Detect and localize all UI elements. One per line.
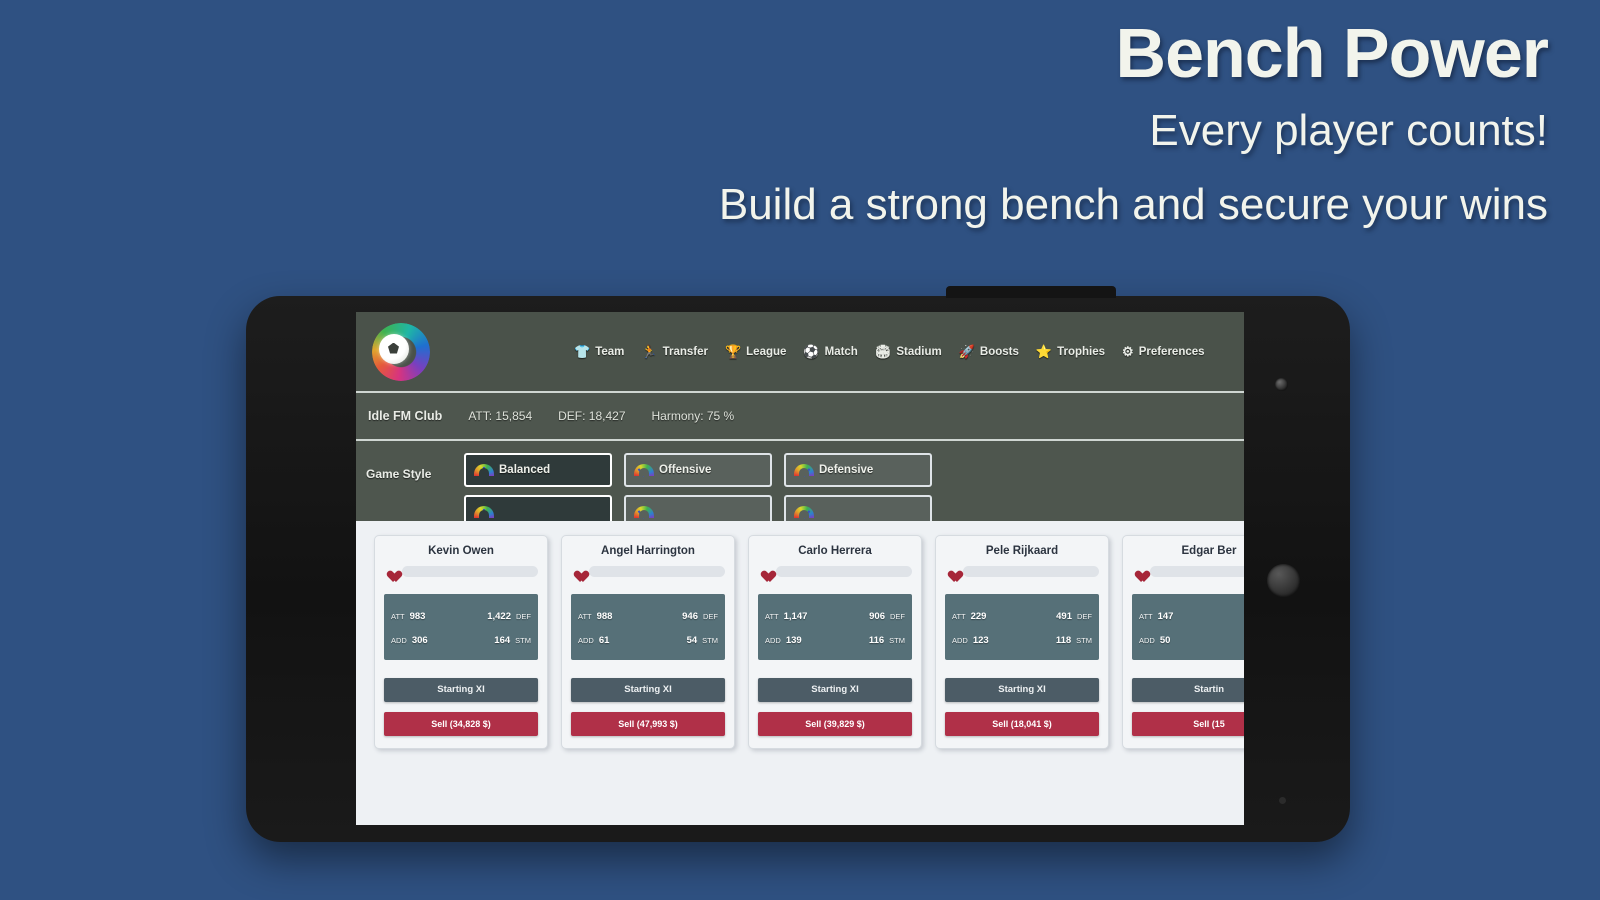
player-stat-box: ATT983 1,422DEF ADD306 164STM [384, 594, 538, 660]
game-style-option-offensive-row2[interactable] [624, 495, 772, 521]
stat-key-stm: STM [889, 636, 905, 645]
stat-value-def: 946 [682, 611, 698, 622]
health-bar-track [1150, 566, 1244, 577]
nav-item-team[interactable]: 👕 Team [574, 345, 624, 358]
stat-value-att: 229 [971, 611, 987, 622]
rocket-icon: 🚀 [959, 345, 975, 358]
game-style-option-defensive-row2[interactable] [784, 495, 932, 521]
club-defense-stat: DEF: 18,427 [558, 409, 625, 423]
game-style-bar: Game Style Balanced Offensive [356, 441, 1244, 521]
gauge-icon [474, 464, 494, 476]
gauge-icon [474, 506, 494, 518]
phone-device-frame: 👕 Team 🏃 Transfer 🏆 League ⚽ Match 🏟 [246, 296, 1350, 842]
whistle-icon: ⚽ [803, 345, 819, 358]
app-top-navigation: 👕 Team 🏃 Transfer 🏆 League ⚽ Match 🏟 [356, 312, 1244, 393]
home-button[interactable] [1267, 564, 1300, 597]
stat-key-att: ATT [391, 612, 405, 621]
player-card[interactable]: Kevin Owen ATT983 1,422DEF ADD306 164STM… [374, 535, 548, 749]
game-style-option-offensive[interactable]: Offensive [624, 453, 772, 487]
sell-player-button[interactable]: Sell (34,828 $) [384, 712, 538, 736]
player-stat-box: ATT988 946DEF ADD61 54STM [571, 594, 725, 660]
player-stat-row-attack-defense: ATT988 946DEF [578, 611, 718, 622]
nav-item-label: Boosts [980, 346, 1019, 358]
heart-icon [945, 565, 959, 578]
gear-icon: ⚙ [1122, 345, 1134, 358]
sell-player-button[interactable]: Sell (47,993 $) [571, 712, 725, 736]
player-name: Carlo Herrera [758, 545, 912, 557]
stat-key-def: DEF [1077, 612, 1092, 621]
player-stat-row-attack-defense: ATT147 DEF [1139, 611, 1244, 622]
health-bar-track [963, 566, 1099, 577]
player-health-row [571, 565, 725, 578]
player-stat-box: ATT147 DEF ADD50 STM [1132, 594, 1244, 660]
player-health-row [384, 565, 538, 578]
game-style-option-label: Offensive [659, 464, 711, 476]
player-name: Edgar Ber [1132, 545, 1244, 557]
starting-xi-button[interactable]: Startin [1132, 678, 1244, 702]
nav-item-label: Stadium [896, 346, 941, 358]
stat-value-stm: 116 [869, 635, 884, 646]
club-crest-icon[interactable] [366, 323, 424, 381]
stat-key-att: ATT [765, 612, 779, 621]
transfer-icon: 🏃 [641, 345, 657, 358]
phone-screen: 👕 Team 🏃 Transfer 🏆 League ⚽ Match 🏟 [356, 312, 1244, 825]
stat-value-add: 61 [599, 635, 610, 646]
stat-key-att: ATT [952, 612, 966, 621]
nav-item-label: Preferences [1139, 346, 1205, 358]
stat-value-stm: 164 [494, 635, 510, 646]
promo-text-block: Bench Power Every player counts! Build a… [719, 18, 1548, 237]
starting-xi-button[interactable]: Starting XI [758, 678, 912, 702]
game-style-option-label: Defensive [819, 464, 873, 476]
health-bar-track [589, 566, 725, 577]
gauge-icon [634, 506, 654, 518]
player-card[interactable]: Pele Rijkaard ATT229 491DEF ADD123 118ST… [935, 535, 1109, 749]
club-info-bar: Idle FM Club ATT: 15,854 DEF: 18,427 Har… [356, 393, 1244, 441]
player-stat-box: ATT229 491DEF ADD123 118STM [945, 594, 1099, 660]
nav-item-league[interactable]: 🏆 League [725, 345, 786, 358]
stat-key-att: ATT [578, 612, 592, 621]
player-stat-row-add-stamina: ADD50 STM [1139, 635, 1244, 646]
starting-xi-button[interactable]: Starting XI [571, 678, 725, 702]
nav-item-transfer[interactable]: 🏃 Transfer [641, 345, 708, 358]
player-stat-row-attack-defense: ATT983 1,422DEF [391, 611, 531, 622]
stat-value-stm: 118 [1056, 635, 1071, 646]
player-card[interactable]: Carlo Herrera ATT1,147 906DEF ADD139 116… [748, 535, 922, 749]
star-icon: ⭐ [1036, 345, 1052, 358]
nav-items-container: 👕 Team 🏃 Transfer 🏆 League ⚽ Match 🏟 [574, 345, 1205, 358]
nav-item-trophies[interactable]: ⭐ Trophies [1036, 345, 1105, 358]
nav-item-label: Match [825, 346, 858, 358]
health-bar-track [402, 566, 538, 577]
stat-value-def: 491 [1056, 611, 1072, 622]
game-style-label: Game Style [366, 467, 452, 481]
nav-item-label: Team [595, 346, 624, 358]
club-attack-stat: ATT: 15,854 [468, 409, 532, 423]
jersey-icon: 👕 [574, 345, 590, 358]
stat-key-add: ADD [391, 636, 407, 645]
phone-top-speaker [946, 286, 1116, 298]
sell-player-button[interactable]: Sell (15 [1132, 712, 1244, 736]
stat-key-def: DEF [703, 612, 718, 621]
promo-title: Bench Power [719, 18, 1548, 88]
stat-key-stm: STM [1076, 636, 1092, 645]
game-style-column-offensive: Offensive [624, 453, 772, 521]
front-camera-icon [1275, 378, 1288, 391]
stat-value-add: 123 [973, 635, 989, 646]
nav-item-label: Transfer [663, 346, 708, 358]
stat-value-stm: 54 [687, 635, 698, 646]
club-harmony-stat: Harmony: 75 % [652, 409, 735, 423]
player-stat-row-add-stamina: ADD139 116STM [765, 635, 905, 646]
stat-value-att: 983 [410, 611, 426, 622]
promo-subtitle-line-1: Every player counts! [719, 100, 1548, 162]
stat-key-add: ADD [765, 636, 781, 645]
stat-key-stm: STM [702, 636, 718, 645]
player-card[interactable]: Angel Harrington ATT988 946DEF ADD61 54S… [561, 535, 735, 749]
stat-value-add: 306 [412, 635, 428, 646]
game-style-option-balanced-row2[interactable] [464, 495, 612, 521]
stat-value-def: 906 [869, 611, 885, 622]
stat-key-add: ADD [952, 636, 968, 645]
nav-item-preferences[interactable]: ⚙ Preferences [1122, 345, 1205, 358]
nav-item-label: League [746, 346, 786, 358]
game-style-column-defensive: Defensive [784, 453, 932, 521]
trophy-cup-icon: 🏆 [725, 345, 741, 358]
game-style-column-balanced: Balanced [464, 453, 612, 521]
player-name: Pele Rijkaard [945, 545, 1099, 557]
stat-key-att: ATT [1139, 612, 1153, 621]
heart-icon [571, 565, 585, 578]
player-stat-row-add-stamina: ADD123 118STM [952, 635, 1092, 646]
stat-value-add: 139 [786, 635, 802, 646]
player-stat-row-add-stamina: ADD61 54STM [578, 635, 718, 646]
player-stat-row-attack-defense: ATT1,147 906DEF [765, 611, 905, 622]
promo-subtitle-line-2: Build a strong bench and secure your win… [719, 174, 1548, 236]
player-health-row [758, 565, 912, 578]
heart-icon [1132, 565, 1146, 578]
player-card-list[interactable]: Kevin Owen ATT983 1,422DEF ADD306 164STM… [356, 521, 1244, 825]
stat-key-add: ADD [1139, 636, 1155, 645]
stat-key-def: DEF [890, 612, 905, 621]
sensor-dot-icon [1279, 797, 1286, 804]
stat-key-add: ADD [578, 636, 594, 645]
game-style-option-defensive[interactable]: Defensive [784, 453, 932, 487]
starting-xi-button[interactable]: Starting XI [384, 678, 538, 702]
game-style-option-balanced[interactable]: Balanced [464, 453, 612, 487]
game-style-option-label: Balanced [499, 464, 550, 476]
gauge-icon [794, 464, 814, 476]
player-name: Kevin Owen [384, 545, 538, 557]
stat-key-stm: STM [515, 636, 531, 645]
player-stat-row-add-stamina: ADD306 164STM [391, 635, 531, 646]
player-health-row [1132, 565, 1244, 578]
player-card[interactable]: Edgar Ber ATT147 DEF ADD50 STM Startin [1122, 535, 1244, 749]
stat-value-att: 147 [1158, 611, 1174, 622]
health-bar-track [776, 566, 912, 577]
gauge-icon [794, 506, 814, 518]
stat-value-att: 1,147 [784, 611, 808, 622]
nav-item-stadium[interactable]: 🏟 Stadium [875, 345, 942, 358]
stat-value-att: 988 [597, 611, 613, 622]
starting-xi-button[interactable]: Starting XI [945, 678, 1099, 702]
heart-icon [758, 565, 772, 578]
player-health-row [945, 565, 1099, 578]
nav-item-boosts[interactable]: 🚀 Boosts [959, 345, 1019, 358]
gauge-icon [634, 464, 654, 476]
heart-icon [384, 565, 398, 578]
stat-value-add: 50 [1160, 635, 1171, 646]
stat-value-def: 1,422 [487, 611, 511, 622]
club-name: Idle FM Club [368, 409, 442, 423]
stadium-icon: 🏟 [875, 345, 892, 358]
player-name: Angel Harrington [571, 545, 725, 557]
nav-item-label: Trophies [1057, 346, 1105, 358]
sell-player-button[interactable]: Sell (39,829 $) [758, 712, 912, 736]
nav-item-match[interactable]: ⚽ Match [803, 345, 857, 358]
player-stat-box: ATT1,147 906DEF ADD139 116STM [758, 594, 912, 660]
player-stat-row-attack-defense: ATT229 491DEF [952, 611, 1092, 622]
sell-player-button[interactable]: Sell (18,041 $) [945, 712, 1099, 736]
stat-key-def: DEF [516, 612, 531, 621]
